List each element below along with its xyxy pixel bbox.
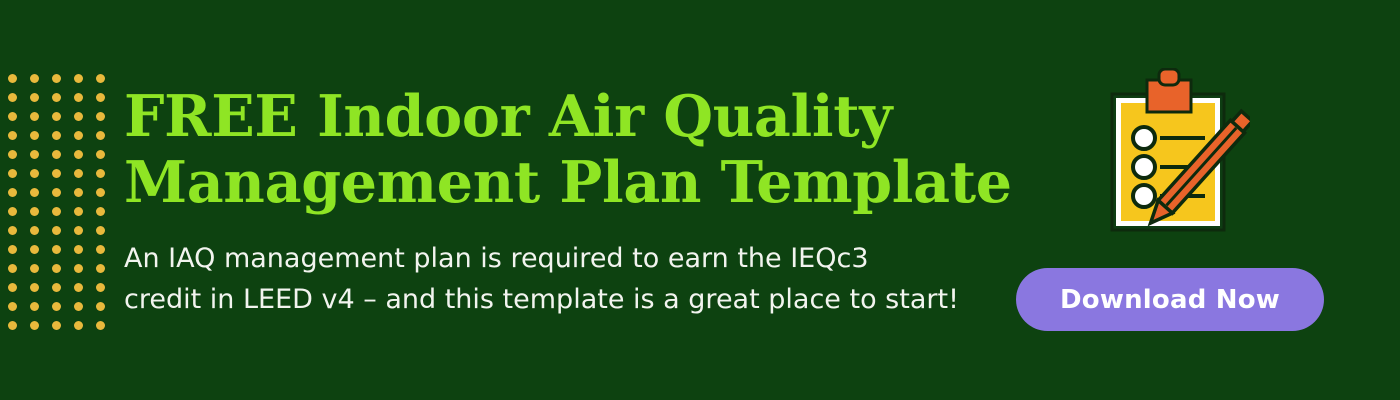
grid-dot: [96, 169, 105, 178]
grid-dot: [8, 321, 17, 330]
grid-dot: [30, 150, 39, 159]
grid-dot: [52, 112, 61, 121]
grid-dot: [8, 188, 17, 197]
grid-dot: [52, 150, 61, 159]
grid-dot: [96, 321, 105, 330]
grid-dot: [74, 93, 83, 102]
grid-dot: [8, 169, 17, 178]
grid-dot: [30, 283, 39, 292]
clipboard-checklist-pen-icon: [1100, 68, 1250, 243]
grid-dot: [52, 226, 61, 235]
grid-dot: [96, 74, 105, 83]
grid-dot: [52, 283, 61, 292]
grid-dot: [30, 321, 39, 330]
grid-dot: [74, 131, 83, 140]
grid-dot: [30, 302, 39, 311]
grid-dot: [74, 283, 83, 292]
grid-dot: [52, 302, 61, 311]
grid-dot: [52, 188, 61, 197]
grid-dot: [8, 131, 17, 140]
grid-dot: [74, 264, 83, 273]
grid-dot: [30, 93, 39, 102]
banner-description: An IAQ management plan is required to ea…: [124, 238, 984, 320]
grid-dot: [52, 264, 61, 273]
grid-dot: [52, 131, 61, 140]
grid-dot: [96, 264, 105, 273]
grid-dot: [96, 226, 105, 235]
grid-dot: [96, 131, 105, 140]
grid-dot: [74, 188, 83, 197]
grid-dot: [30, 264, 39, 273]
grid-dot: [8, 283, 17, 292]
grid-dot: [96, 93, 105, 102]
grid-dot: [74, 207, 83, 216]
promo-banner: FREE Indoor Air Quality Management Plan …: [0, 0, 1400, 400]
grid-dot: [96, 302, 105, 311]
grid-dot: [74, 112, 83, 121]
headline-line-1: FREE Indoor Air Quality: [124, 84, 984, 150]
grid-dot: [8, 245, 17, 254]
grid-dot: [74, 150, 83, 159]
grid-dot: [30, 112, 39, 121]
banner-text-block: FREE Indoor Air Quality Management Plan …: [124, 84, 984, 320]
grid-dot: [52, 74, 61, 83]
page-title: FREE Indoor Air Quality Management Plan …: [124, 84, 984, 216]
grid-dot: [74, 245, 83, 254]
grid-dot: [8, 74, 17, 83]
grid-dot: [30, 131, 39, 140]
grid-dot: [96, 207, 105, 216]
download-now-button[interactable]: Download Now: [1016, 268, 1324, 331]
grid-dot: [30, 74, 39, 83]
grid-dot: [52, 207, 61, 216]
grid-dot: [8, 302, 17, 311]
grid-dot: [30, 226, 39, 235]
grid-dot: [74, 226, 83, 235]
grid-dot: [8, 150, 17, 159]
grid-dot: [96, 283, 105, 292]
grid-dot: [8, 112, 17, 121]
grid-dot: [74, 169, 83, 178]
grid-dot: [96, 188, 105, 197]
grid-dot: [74, 74, 83, 83]
grid-dot: [30, 207, 39, 216]
grid-dot: [8, 207, 17, 216]
grid-dot: [30, 245, 39, 254]
grid-dot: [52, 245, 61, 254]
grid-dot: [8, 226, 17, 235]
grid-dot: [30, 188, 39, 197]
grid-dot: [8, 93, 17, 102]
subcopy-line-1: An IAQ management plan is required to ea…: [124, 238, 984, 279]
grid-dot: [52, 321, 61, 330]
grid-dot: [30, 169, 39, 178]
grid-dot: [8, 264, 17, 273]
grid-dot: [52, 93, 61, 102]
headline-line-2: Management Plan Template: [124, 150, 984, 216]
subcopy-line-2: credit in LEED v4 – and this template is…: [124, 279, 984, 320]
grid-dot: [74, 302, 83, 311]
dot-grid-decoration: [8, 74, 118, 340]
grid-dot: [74, 321, 83, 330]
grid-dot: [96, 112, 105, 121]
grid-dot: [52, 169, 61, 178]
grid-dot: [96, 150, 105, 159]
grid-dot: [96, 245, 105, 254]
